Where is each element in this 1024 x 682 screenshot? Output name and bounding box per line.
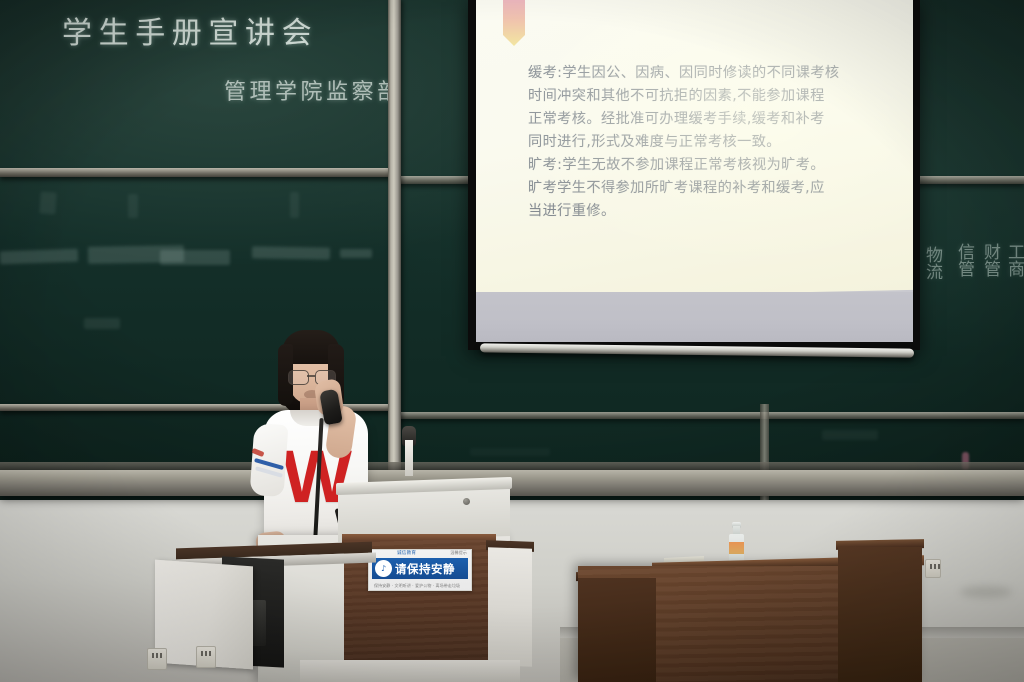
chalk-smudge (39, 191, 56, 214)
music-note-icon: ♪ (375, 560, 392, 577)
blackboard-headline: 学生手册宣讲会 (62, 8, 318, 52)
desk-right-wing (838, 547, 922, 682)
lectern-right-wing (488, 547, 532, 667)
board-rail-horizontal (0, 168, 392, 177)
blackboard-column-3: 财管 (980, 243, 999, 277)
blackboard-column-2: 信管 (954, 243, 973, 277)
socket-holes-icon (152, 653, 162, 658)
slide-line-7: 当进行重修。 (528, 200, 893, 223)
screen-unlit-band (476, 292, 913, 342)
sign-main-text: 请保持安静 (395, 561, 455, 577)
slide-line-2: 时间冲突和其他不可抗拒的因素,不能参加课程 (528, 85, 893, 108)
chalk-smudge (84, 318, 120, 329)
slide-line-5: 旷考:学生无故不参加课程正常考核视为旷考。 (528, 154, 893, 177)
microphone-stand (405, 440, 413, 476)
sign-brand-left: 诚信教育 (397, 550, 416, 556)
slide-line-3: 正常考核。经批准可办理缓考手续,缓考和补考 (528, 108, 893, 131)
chalk-smudge (0, 249, 78, 265)
desk-left-wing (578, 578, 656, 682)
ribbon-decoration-icon (503, 0, 525, 46)
chalk-smudge (160, 250, 230, 265)
lectern-base (300, 660, 520, 682)
wall-smudge (960, 586, 1012, 598)
chalk-smudge (470, 448, 550, 456)
blackboard-column-1: 物流 (922, 246, 941, 280)
wall-socket (196, 646, 216, 668)
blackboard-subline: 管理学院监察部 (224, 74, 403, 106)
slide-line-6: 旷考学生不得参加所旷考课程的补考和缓考,应 (528, 177, 893, 200)
board-rail-horizontal (392, 412, 1024, 419)
chalk-smudge (822, 430, 878, 440)
screen-surface: 缓考:学生因公、因病、因同时修读的不同课考核 时间冲突和其他不可抗拒的因素,不能… (476, 0, 913, 342)
slide-line-1: 缓考:学生因公、因病、因同时修读的不同课考核 (528, 62, 893, 85)
wall-socket (147, 648, 167, 670)
classroom-photo: 学生手册宣讲会 管理学院监察部 物流 信管 财管 工商 缓考:学生因公、因 (0, 0, 1024, 682)
bottle-label (729, 542, 744, 554)
sign-band: ♪ 请保持安静 (372, 558, 468, 579)
chalk-smudge (290, 192, 299, 218)
chalk-tray (0, 470, 1024, 496)
blackboard-column-4: 工商 (1004, 243, 1023, 277)
chalk-smudge (252, 246, 330, 259)
socket-holes-icon (201, 651, 211, 656)
wall-socket (925, 559, 941, 578)
sign-brand-right: 温馨提示 (450, 550, 467, 556)
socket-holes-icon (930, 564, 940, 569)
projection-screen: 缓考:学生因公、因病、因同时修读的不同课考核 时间冲突和其他不可抗拒的因素,不能… (468, 0, 920, 350)
slide-line-4: 同时进行,形式及难度与正常考核一致。 (528, 131, 893, 154)
board-rail-vertical (388, 0, 401, 500)
slide-text-body: 缓考:学生因公、因病、因同时修读的不同课考核 时间冲突和其他不可抗拒的因素,不能… (528, 62, 893, 223)
chalk-smudge (128, 194, 138, 218)
glasses-bridge (307, 375, 315, 377)
glasses-lens-left (288, 370, 309, 385)
lectern-screw (463, 498, 470, 505)
sign-footer-text: 保持安静 · 文明听讲 · 爱护公物 · 离场带走垃圾 (374, 583, 466, 589)
projected-slide: 缓考:学生因公、因病、因同时修读的不同课考核 时间冲突和其他不可抗拒的因素,不能… (476, 0, 913, 299)
keep-quiet-sign: 诚信教育 温馨提示 ♪ 请保持安静 保持安静 · 文明听讲 · 爱护公物 · 离… (368, 549, 472, 591)
chalk-smudge (340, 249, 372, 258)
